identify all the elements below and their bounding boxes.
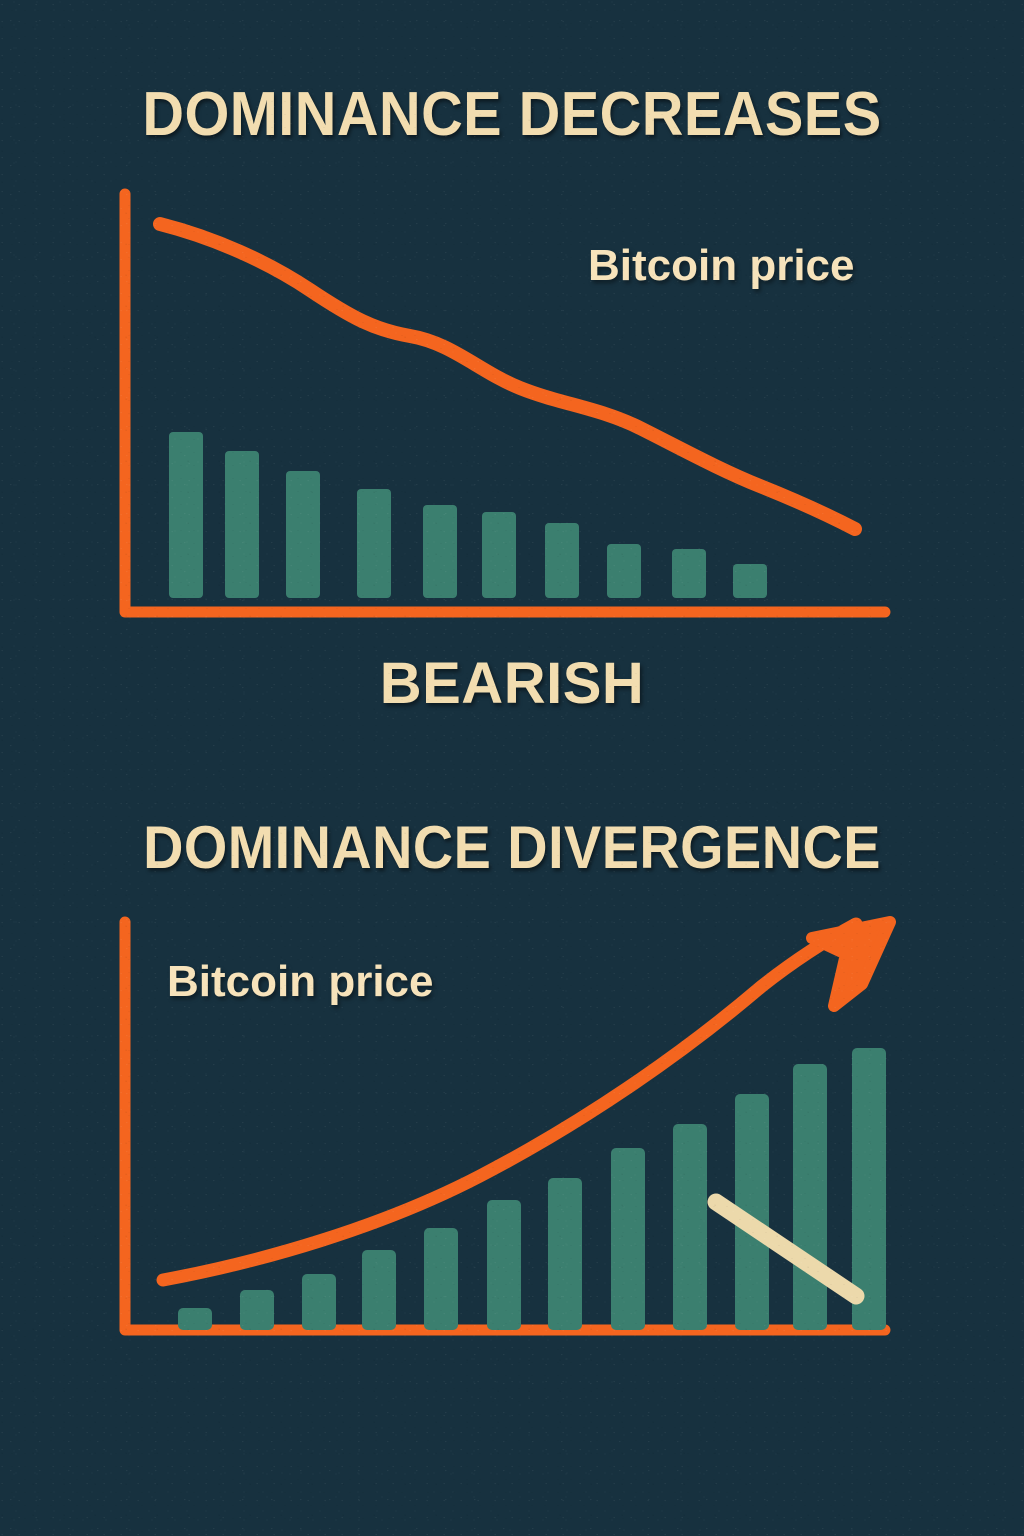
verdict-badge-bearish: BEARISH (0, 655, 1024, 713)
bar-4 (362, 1250, 396, 1330)
bar-9 (673, 1124, 707, 1330)
bar-4 (357, 489, 391, 598)
bar-9 (672, 549, 706, 598)
bar-group-dominance-divergence (178, 1048, 886, 1330)
bar-2 (240, 1290, 274, 1330)
bar-8 (607, 544, 641, 598)
bar-5 (424, 1228, 458, 1330)
legend-label-bitcoin-price-top: Bitcoin price (588, 244, 855, 288)
page-title-dominance-divergence: DOMINANCE DIVERGENCE (36, 818, 988, 878)
bar-1 (178, 1308, 212, 1330)
bar-2 (225, 451, 259, 598)
up-arrow-icon (812, 922, 890, 1006)
bar-6 (487, 1200, 521, 1330)
bar-8 (611, 1148, 645, 1330)
bar-7 (545, 523, 579, 598)
bar-11 (793, 1064, 827, 1330)
chart-dominance-decreases (0, 0, 1024, 660)
bar-10 (733, 564, 767, 598)
bar-7 (548, 1178, 582, 1330)
bar-3 (302, 1274, 336, 1330)
bar-group-dominance-decreases (169, 432, 767, 598)
chart-dominance-divergence (0, 880, 1024, 1380)
bar-6 (482, 512, 516, 598)
bar-3 (286, 471, 320, 598)
bar-5 (423, 505, 457, 598)
infographic-poster: DOMINANCE DECREASES Bitcoin price BEARIS… (0, 0, 1024, 1536)
legend-label-bitcoin-price-bottom: Bitcoin price (167, 960, 434, 1004)
bar-1 (169, 432, 203, 598)
